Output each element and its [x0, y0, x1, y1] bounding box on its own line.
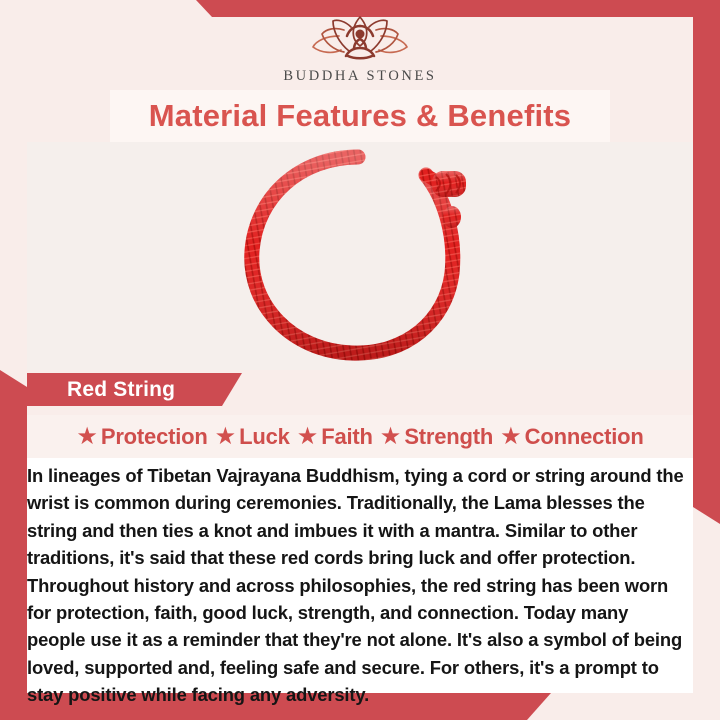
star-icon: ★	[76, 425, 98, 449]
frame-bar-left	[0, 370, 27, 720]
braided-red-cord-bracelet-icon	[230, 145, 490, 367]
feature-item-strength: ★ Strength	[380, 424, 493, 450]
feature-item-protection: ★ Protection	[76, 424, 207, 450]
star-icon: ★	[297, 425, 319, 449]
feature-label: Protection	[101, 424, 208, 450]
feature-item-faith: ★ Faith	[297, 424, 373, 450]
feature-item-luck: ★ Luck	[215, 424, 290, 450]
feature-label: Strength	[404, 424, 493, 450]
star-icon: ★	[215, 425, 237, 449]
feature-label: Luck	[239, 424, 290, 450]
star-icon: ★	[380, 425, 402, 449]
feature-list: ★ Protection ★ Luck ★ Faith ★ Strength ★…	[27, 415, 693, 458]
brand-logo: BUDDHA STONES	[0, 14, 720, 90]
product-image	[27, 142, 693, 370]
feature-label: Faith	[321, 424, 373, 450]
brand-name: BUDDHA STONES	[283, 68, 436, 85]
page-title: Material Features & Benefits	[110, 90, 610, 142]
feature-item-connection: ★ Connection	[500, 424, 644, 450]
lotus-meditation-icon	[306, 14, 414, 66]
star-icon: ★	[500, 425, 522, 449]
ribbon-label: Red String	[67, 378, 175, 402]
section-ribbon: Red String	[27, 373, 242, 406]
infographic-page: BUDDHA STONES Material Features & Benefi…	[0, 0, 720, 720]
feature-label: Connection	[525, 424, 644, 450]
description-block: In lineages of Tibetan Vajrayana Buddhis…	[27, 458, 693, 693]
description-paragraph: In lineages of Tibetan Vajrayana Buddhis…	[27, 462, 687, 709]
